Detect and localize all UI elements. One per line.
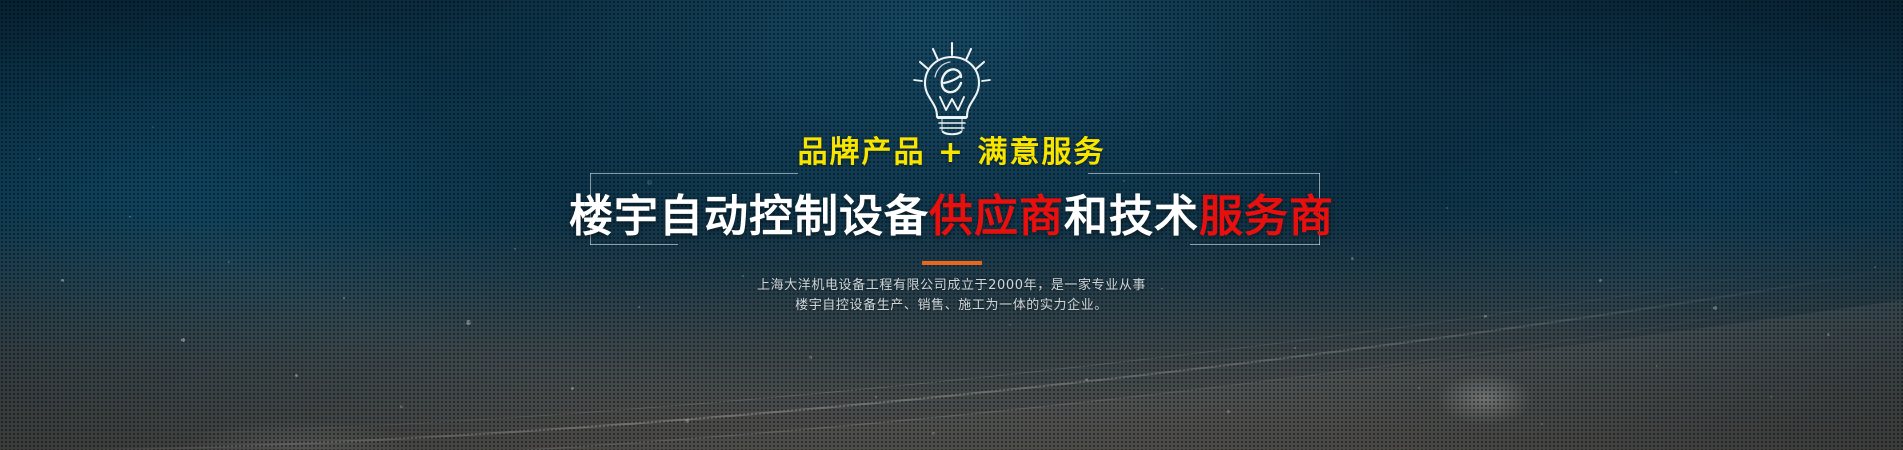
frame-line-bottom-right — [1190, 244, 1320, 245]
headline-highlight-2: 服务商 — [1199, 191, 1334, 242]
headline-part-1: 楼宇自动控制设备 — [569, 191, 929, 242]
headline-part-3: 和技术 — [1064, 191, 1199, 242]
headline-highlight-1: 供应商 — [929, 191, 1064, 242]
lightbulb-logo — [0, 40, 1903, 136]
company-description: 上海大洋机电设备工程有限公司成立于2000年，是一家专业从事 楼宇自控设备生产、… — [0, 276, 1903, 316]
frame-line-bottom-left — [590, 244, 678, 245]
frame-line-top-left — [590, 173, 798, 174]
hero-banner: 品牌产品 + 满意服务 楼宇自动控制设备供应商和技术服务商 上海大洋机电设备工程… — [0, 0, 1903, 450]
divider-bar — [922, 261, 982, 265]
description-line-2: 楼宇自控设备生产、销售、施工为一体的实力企业。 — [0, 296, 1903, 316]
orange-divider — [0, 261, 1903, 265]
kicker-text: 品牌产品 + 满意服务 — [0, 138, 1903, 168]
description-line-1: 上海大洋机电设备工程有限公司成立于2000年，是一家专业从事 — [0, 276, 1903, 296]
frame-line-top-right — [1088, 173, 1320, 174]
lightbulb-e-icon — [897, 40, 1007, 136]
page-title: 楼宇自动控制设备供应商和技术服务商 — [0, 192, 1903, 241]
